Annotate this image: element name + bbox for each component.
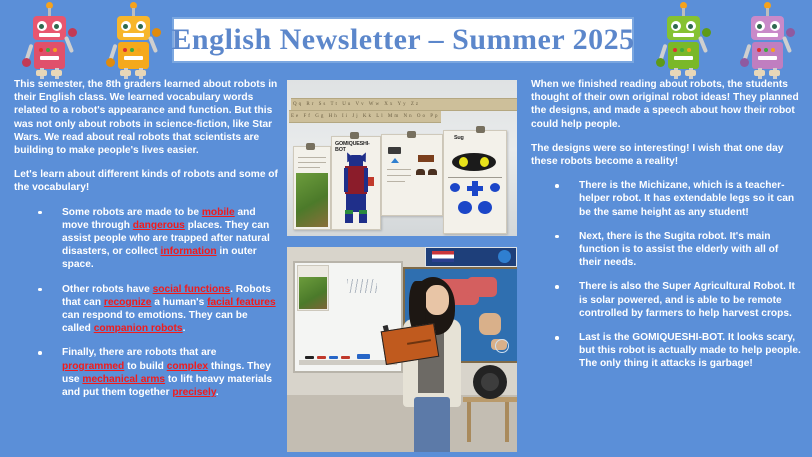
bullet-mobile-robots: Some robots are made to be mobile and mo… <box>14 206 278 272</box>
world-map-banner <box>425 247 517 267</box>
robot-red <box>12 0 84 76</box>
highlighted-vocabulary: information <box>161 246 217 257</box>
poster-robot-diagram <box>381 134 443 216</box>
bullet-programmed-robots: Finally, there are robots that are progr… <box>14 346 278 399</box>
left-column: This semester, the 8th graders learned a… <box>14 78 278 410</box>
page-title: English Newsletter – Summer 2025 <box>171 23 634 57</box>
robot-mouth <box>39 33 60 37</box>
bullet-text: Last is the GOMIQUESHI-BOT. It looks sca… <box>579 332 801 369</box>
bullet-gomiqueshi-bot: Last is the GOMIQUESHI-BOT. It looks sca… <box>531 331 803 371</box>
robot-green <box>646 0 718 76</box>
bullet-dot-icon <box>38 211 42 215</box>
highlighted-vocabulary: dangerous <box>133 220 185 231</box>
highlighted-vocabulary: mechanical arms <box>82 374 165 385</box>
magnet-icon <box>350 132 359 139</box>
highlighted-vocabulary: complex <box>167 361 208 372</box>
bullet-text-segment: Some robots are made to be <box>62 207 202 218</box>
bullet-social-robots: Other robots have social functions. Robo… <box>14 283 278 336</box>
right-paragraph-2: The designs were so interesting! I wish … <box>531 142 803 168</box>
highlighted-vocabulary: social functions <box>153 284 231 295</box>
robot-clipart-left <box>12 0 180 76</box>
bullet-text-segment: a human's <box>151 297 207 308</box>
robot-purple <box>730 0 802 76</box>
robot-mouth <box>757 33 778 37</box>
magnet-icon <box>407 131 416 138</box>
magnet-icon <box>476 126 485 133</box>
highlighted-vocabulary: companion robots <box>94 323 183 334</box>
robot-clipart-right <box>646 0 802 76</box>
bullet-dot-icon <box>555 184 559 188</box>
newsletter-title-box: English Newsletter – Summer 2025 <box>172 17 634 63</box>
bullet-text-segment: . <box>183 323 186 334</box>
student-robot-posters-photo: Qq Rr Ss Tt Uu Vv Ww Xx Yy Zz Ee Ff Gg H… <box>287 80 517 236</box>
robot-yellow <box>96 0 168 76</box>
poster-label-2: Sug <box>454 135 464 141</box>
poster-gomiqueshi-bot: GOMIQUESHI-BOT <box>331 136 381 230</box>
bullet-text-segment: Finally, there are robots that are <box>62 347 216 358</box>
vegetable-poster <box>297 265 329 311</box>
student-jeans <box>414 397 450 452</box>
bullet-dot-icon <box>555 336 559 340</box>
magnet-icon <box>306 143 315 150</box>
poster-vegetables <box>293 146 331 230</box>
left-bullet-list: Some robots are made to be mobile and mo… <box>14 206 278 400</box>
bullet-text: There is also the Super Agricultural Rob… <box>579 281 795 318</box>
student-presentation-photo <box>287 247 517 452</box>
highlighted-vocabulary: mobile <box>202 207 235 218</box>
bullet-text: Some robots are made to be mobile and mo… <box>62 207 270 271</box>
bullet-sugita: Next, there is the Sugita robot. It's ma… <box>531 230 803 270</box>
student-face <box>425 285 449 315</box>
bullet-text: Other robots have social functions. Robo… <box>62 284 276 335</box>
bullet-text: Next, there is the Sugita robot. It's ma… <box>579 231 778 268</box>
right-bullet-list: There is the Michizane, which is a teach… <box>531 179 803 370</box>
right-column: When we finished reading about robots, t… <box>531 78 803 382</box>
bullet-text-segment: to build <box>124 361 166 372</box>
bullet-dot-icon <box>38 351 42 355</box>
poster-sugita-robot: Sug <box>443 130 507 234</box>
robot-mouth <box>673 33 694 37</box>
bullet-text-segment: . <box>216 387 219 398</box>
highlighted-vocabulary: precisely <box>172 387 215 398</box>
bullet-dot-icon <box>555 285 559 289</box>
left-paragraph-1: This semester, the 8th graders learned a… <box>14 78 278 157</box>
bullet-dot-icon <box>38 288 42 292</box>
bullet-text-segment: Other robots have <box>62 284 153 295</box>
poster-label: GOMIQUESHI-BOT <box>335 141 380 153</box>
bullet-text: Finally, there are robots that are progr… <box>62 347 272 398</box>
bullet-michizane: There is the Michizane, which is a teach… <box>531 179 803 219</box>
highlighted-vocabulary: programmed <box>62 361 124 372</box>
left-paragraph-2: Let's learn about different kinds of rob… <box>14 168 278 194</box>
robot-mouth <box>123 33 144 37</box>
highlighted-vocabulary: recognize <box>104 297 152 308</box>
bullet-dot-icon <box>555 235 559 239</box>
right-paragraph-1: When we finished reading about robots, t… <box>531 78 803 131</box>
highlighted-vocabulary: facial features <box>207 297 276 308</box>
bullet-super-agricultural: There is also the Super Agricultural Rob… <box>531 280 803 320</box>
bullet-text: There is the Michizane, which is a teach… <box>579 180 794 217</box>
